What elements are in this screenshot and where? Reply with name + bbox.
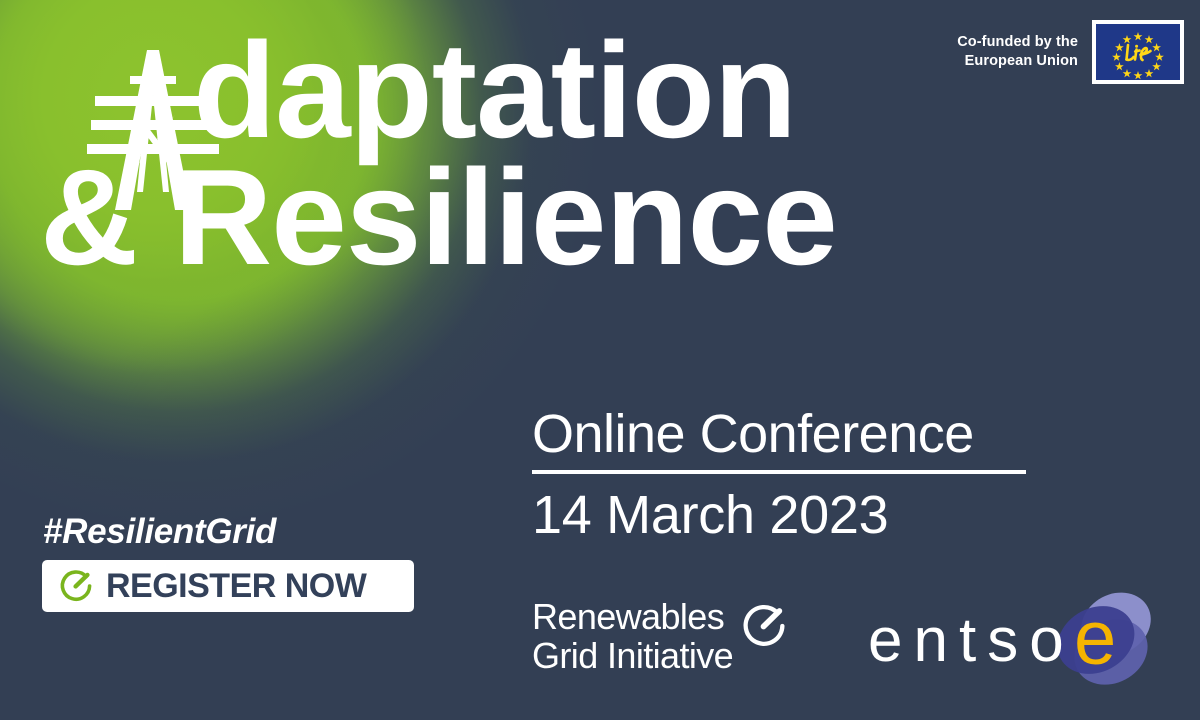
entsoe-logo: e entso bbox=[868, 586, 1168, 696]
rgi-wordmark: Renewables Grid Initiative bbox=[532, 598, 733, 676]
event-divider bbox=[532, 470, 1026, 474]
eu-funding-block: Co-funded by the European Union bbox=[957, 20, 1184, 84]
banner-title: daptation & Resilience bbox=[40, 24, 940, 285]
event-date: 14 March 2023 bbox=[532, 487, 888, 544]
register-now-button[interactable]: REGISTER NOW bbox=[42, 560, 414, 612]
entsoe-wordmark: entso bbox=[868, 610, 1075, 672]
entsoe-e-letter: e bbox=[1074, 596, 1116, 681]
eu-life-flag bbox=[1092, 20, 1184, 84]
power-transmission-tower-icon bbox=[73, 42, 233, 212]
eu-life-flag-icon bbox=[1096, 24, 1180, 80]
conference-promo-banner: Co-funded by the European Union bbox=[0, 0, 1200, 720]
eu-funding-text: Co-funded by the European Union bbox=[957, 33, 1078, 71]
rgi-logo: Renewables Grid Initiative bbox=[532, 598, 791, 676]
register-now-label: REGISTER NOW bbox=[106, 569, 366, 603]
rgi-circle-arrow-icon bbox=[737, 599, 791, 653]
event-type: Online Conference bbox=[532, 406, 974, 463]
rgi-circle-arrow-icon bbox=[56, 566, 96, 606]
hashtag-label: #ResilientGrid bbox=[43, 512, 276, 552]
